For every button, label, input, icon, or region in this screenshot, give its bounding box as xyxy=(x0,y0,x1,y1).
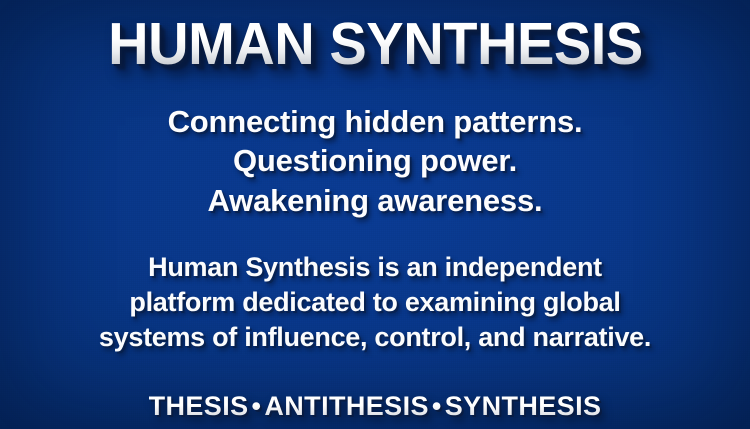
tagline-line-2: Questioning power. xyxy=(168,141,583,180)
motto-word-synthesis: SYNTHESIS xyxy=(445,391,602,421)
motto-word-thesis: THESIS xyxy=(149,391,249,421)
content-stack: HUMAN SYNTHESIS Connecting hidden patter… xyxy=(0,0,750,422)
motto-line: THESIS•ANTITHESIS•SYNTHESIS xyxy=(149,391,602,422)
motto-word-antithesis: ANTITHESIS xyxy=(264,391,429,421)
tagline-block: Connecting hidden patterns. Questioning … xyxy=(168,102,583,220)
bullet-separator-icon: • xyxy=(429,391,445,421)
page-title: HUMAN SYNTHESIS xyxy=(108,15,643,74)
description-line-1: Human Synthesis is an independent xyxy=(99,250,651,285)
description-block: Human Synthesis is an independent platfo… xyxy=(99,250,651,355)
bullet-separator-icon: • xyxy=(249,391,265,421)
description-line-2: platform dedicated to examining global xyxy=(99,285,651,320)
poster-banner: HUMAN SYNTHESIS Connecting hidden patter… xyxy=(0,0,750,429)
description-line-3: systems of influence, control, and narra… xyxy=(99,320,651,355)
tagline-line-1: Connecting hidden patterns. xyxy=(168,102,583,141)
tagline-line-3: Awakening awareness. xyxy=(168,181,583,220)
